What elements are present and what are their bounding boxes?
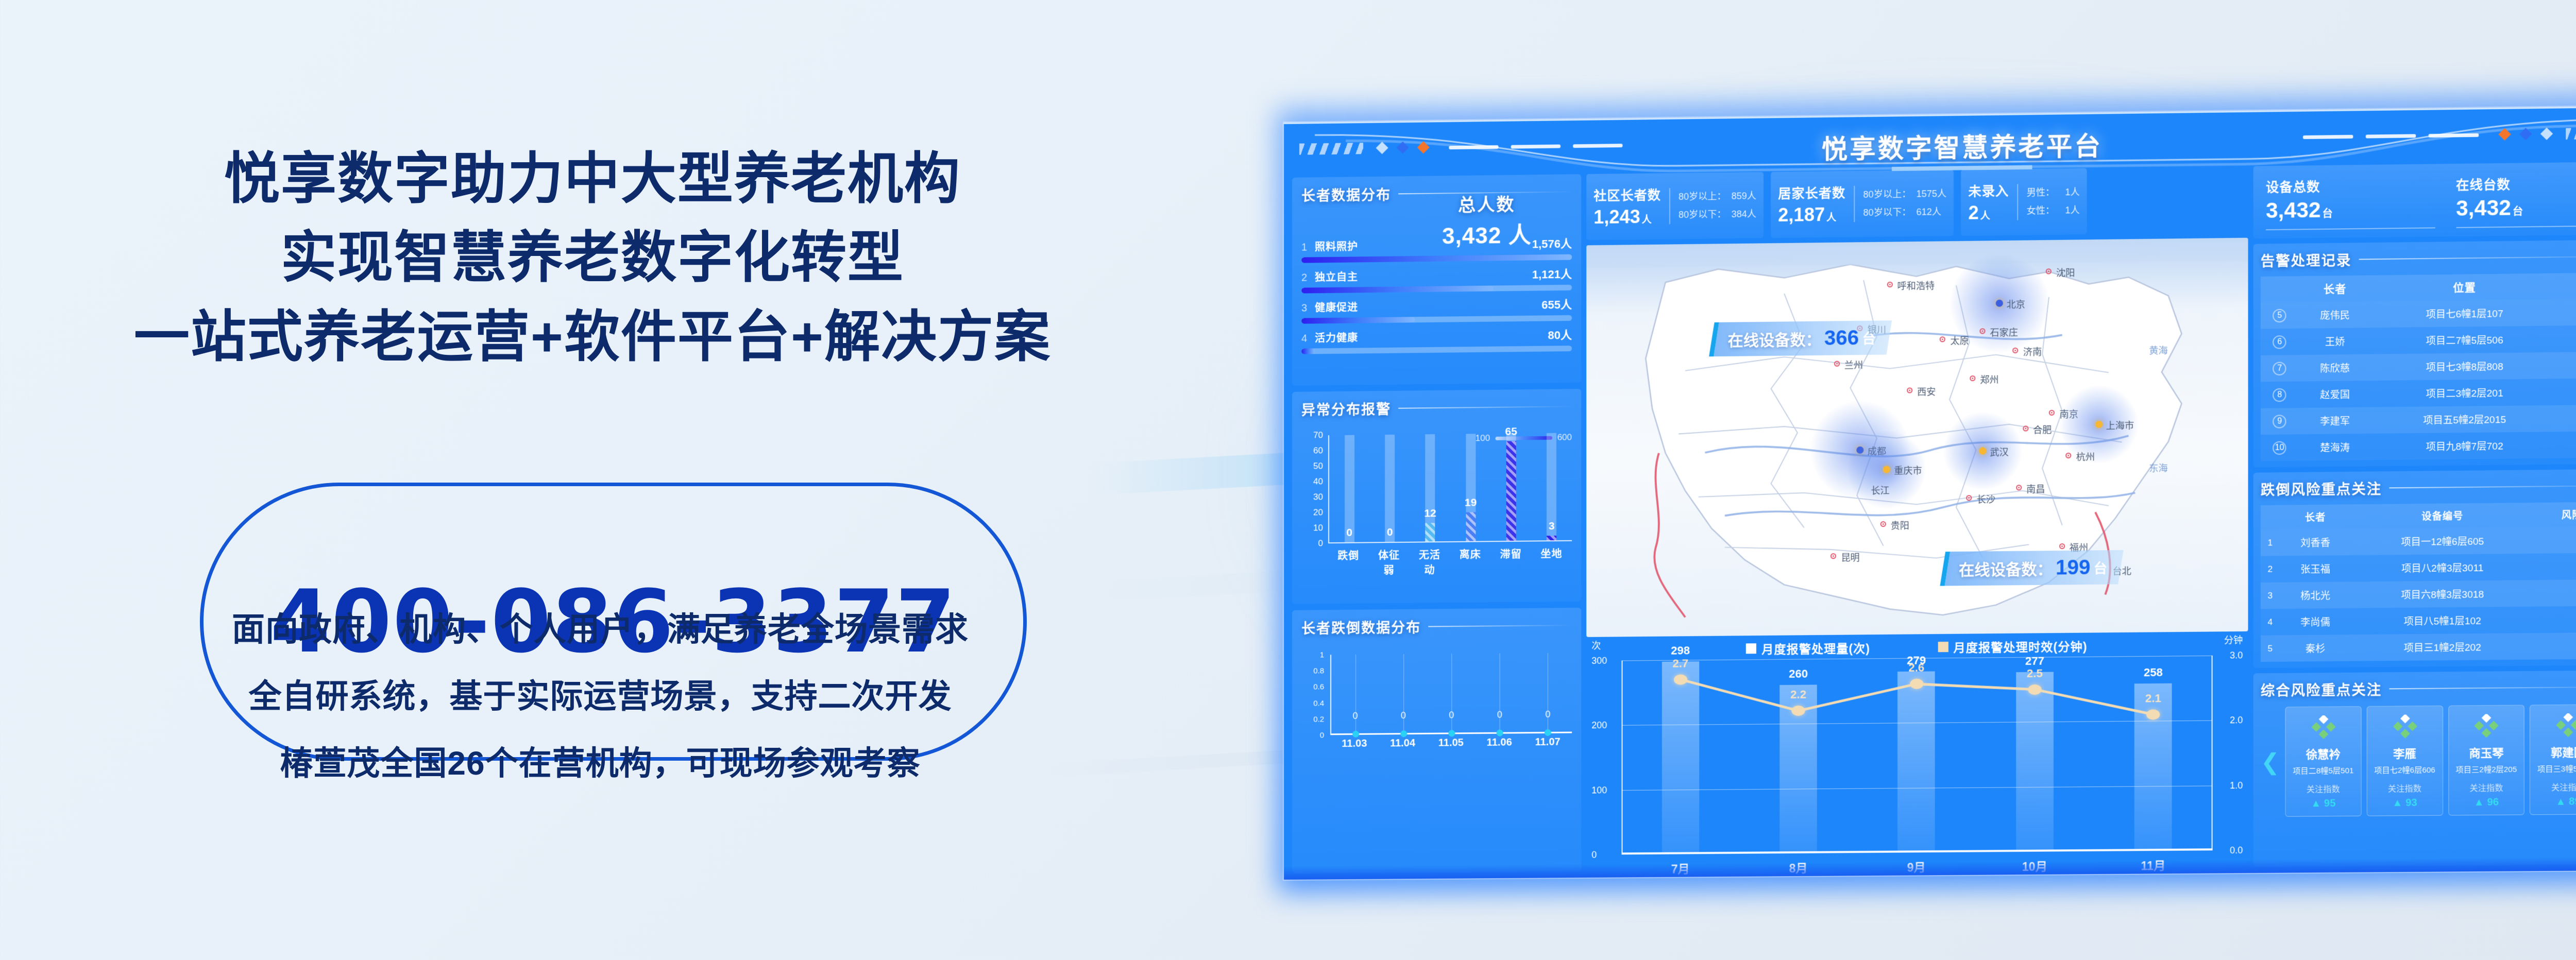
risk-card-score: ▲ 89 <box>2533 796 2576 808</box>
elder-distribution-row: 4活力健康80人 <box>1301 326 1572 354</box>
data-point <box>1545 729 1551 736</box>
table-column-header: 长者 <box>2280 504 2351 529</box>
table-row[interactable]: 5庞伟民项目七6幢1层107已处理 <box>2261 298 2576 329</box>
fall-data-title: 长者跌倒数据分布 <box>1301 615 1572 638</box>
bar-chart-plot: 001219653 <box>1328 433 1572 543</box>
stat-sub-value: 1人 <box>2065 183 2079 202</box>
axis-unit-left: 次 <box>1591 639 1601 652</box>
bar-track <box>1345 435 1354 542</box>
alarm-records-card: 告警处理记录 长者位置状态 5庞伟民项目七6幢1层107已处理6王娇项目二7幢5… <box>2253 239 2576 467</box>
marketing-sub-3: 椿萱茂全国26个在营机构，可现场参观考察 <box>0 747 1200 780</box>
bar-value-label: 12 <box>1424 508 1436 520</box>
x-tick: 9月 <box>1890 858 1942 876</box>
row-index: 3 <box>1301 302 1315 314</box>
elder-distribution-card: 长者数据分布 总人数 3,432 人 1照料照护1,576人2独立自主1,121… <box>1292 174 1581 386</box>
y-tick: 0 <box>1320 731 1324 740</box>
combo-legend-bar: 月度报警处理量(次) <box>1746 639 1870 657</box>
grid-line <box>1548 653 1548 733</box>
row-index: 2 <box>1301 272 1315 284</box>
diamond-cluster-icon <box>2452 713 2521 742</box>
online-tag-1-label: 在线设备数： <box>1727 327 1821 351</box>
data-point-label: 0 <box>1401 710 1406 721</box>
y-tick-left: 0 <box>1591 849 1597 860</box>
y-tick: 0.6 <box>1313 682 1324 691</box>
table-header-row: 长者设备编号风险指数 <box>2261 502 2576 529</box>
risk-card-location: 项目三3幢5层502 <box>2533 763 2576 774</box>
bar-value-label: 3 <box>1549 520 1555 533</box>
map-pin-icon <box>2059 543 2065 549</box>
table-row[interactable]: 10楚海涛项目九8幢7层702已处理 <box>2261 431 2576 461</box>
cell-device: 项目八2幢3层3011 <box>2351 554 2534 582</box>
risk-card[interactable]: 商玉琴项目三2幢2层205关注指数▲ 96 <box>2448 705 2524 816</box>
stat-main: 居家长者数2,187人 <box>1778 183 1845 226</box>
cell-status: 已处理 <box>2558 325 2576 352</box>
cell-index: 10 <box>2261 434 2299 461</box>
cell-index: 4 <box>2261 609 2280 636</box>
title-rule <box>1398 406 1572 408</box>
cell-location: 项目五5幢2层2015 <box>2371 405 2558 434</box>
fall-data-card: 长者跌倒数据分布 00.20.40.60.81 00000 11.0311.04… <box>1292 608 1581 873</box>
y-tick: 50 <box>1313 461 1323 471</box>
right-column: 设备总数3,432台在线台数3,432台 告警处理记录 长者位置状态 5庞伟民项… <box>2253 162 2576 867</box>
online-tag-2-value: 199 <box>2056 556 2090 579</box>
risk-card-score: ▲ 93 <box>2370 797 2439 809</box>
cell-name: 张玉福 <box>2280 555 2351 582</box>
device-stat-value: 3,432台 <box>2266 196 2435 223</box>
cell-index: 6 <box>2261 329 2299 355</box>
cell-name: 王娇 <box>2299 328 2371 355</box>
cell-index: 3 <box>2261 582 2280 609</box>
cell-status: 已处理 <box>2558 431 2576 458</box>
combo-line-point <box>1674 674 1687 684</box>
y-tick-right: 2.0 <box>2230 715 2243 726</box>
bar-fill <box>1506 441 1516 541</box>
title-rule <box>2359 255 2576 260</box>
stat-sub-value: 1人 <box>2065 201 2079 220</box>
row-label: 照料照护 <box>1315 238 1358 253</box>
combo-line-label: 2.2 <box>1790 688 1806 701</box>
cell-index: 7 <box>2261 355 2299 382</box>
y-tick: 1 <box>1320 650 1324 659</box>
table-column-header: 状态 <box>2558 272 2576 299</box>
cell-score: 76 <box>2534 606 2576 633</box>
elder-total-value: 3,432 人 <box>1442 216 1532 250</box>
cell-name: 李尚儒 <box>2280 608 2351 636</box>
table-column-header <box>2261 276 2299 302</box>
row-label: 活力健康 <box>1315 329 1358 345</box>
map-pin-icon <box>1970 375 1975 381</box>
row-bar-track <box>1301 254 1572 263</box>
risk-card-name: 商玉琴 <box>2452 744 2521 761</box>
data-point-label: 0 <box>1497 710 1502 721</box>
risk-card-location: 项目二8幢5层501 <box>2289 765 2358 776</box>
online-tag-2-unit: 台 <box>2094 557 2107 576</box>
cell-name: 陈欣慈 <box>2299 354 2371 382</box>
row-bar-fill <box>1301 348 1315 354</box>
row-bar-track <box>1301 346 1572 354</box>
map-outline-svg <box>1586 238 2248 637</box>
stat-title: 居家长者数 <box>1778 183 1845 202</box>
headline-line-1: 悦享数字助力中大型养老机构 <box>0 139 1185 218</box>
fall-line-chart: 00.20.40.60.81 00000 11.0311.0411.0511.0… <box>1301 653 1572 752</box>
cell-name: 李建军 <box>2299 407 2371 434</box>
china-map[interactable]: 沈阳呼和浩特北京石家庄太原银川济南兰州郑州西安南京合肥上海市成都武汉杭州重庆市长… <box>1586 238 2248 637</box>
stat-sub-value: 1575人 <box>1916 185 1946 203</box>
bar-column: 0 <box>1375 435 1405 542</box>
row-index: 4 <box>1301 333 1315 345</box>
x-tick: 滞留 <box>1496 546 1526 576</box>
y-tick: 0.8 <box>1313 666 1324 675</box>
row-bar-fill <box>1301 285 1494 293</box>
cell-location: 项目二7幢5层506 <box>2371 325 2558 354</box>
stat-sub-key: 80岁以下： <box>1679 205 1726 224</box>
table-row[interactable]: 1刘香香项目一12幢6层60567 <box>2261 526 2576 556</box>
stat-title: 未录入 <box>1968 181 2009 200</box>
stat-main: 未录入2人 <box>1968 181 2009 224</box>
combo-bar-label: 298 <box>1671 644 1690 657</box>
bar-chart-x-labels: 跌倒体征弱无活动离床滞留坐地 <box>1328 545 1572 577</box>
y-tick: 70 <box>1313 430 1323 440</box>
map-city-label: 郑州 <box>1980 372 1998 386</box>
diamond-cluster-icon <box>2370 713 2439 742</box>
grid-line <box>1451 654 1452 734</box>
cell-index: 5 <box>2261 302 2299 329</box>
stat-card: 未录入2人男性：1人女性：1人 <box>1961 168 2087 236</box>
map-city-label: 南昌 <box>2026 482 2045 495</box>
row-bar-track <box>1301 285 1572 294</box>
map-pin-icon <box>1979 328 1985 334</box>
carousel-prev-icon[interactable]: ❮ <box>2261 707 2280 817</box>
online-tag-1-unit: 台 <box>1862 328 1875 347</box>
axis-unit-right: 分钟 <box>2224 633 2243 646</box>
row-value: 1,121人 <box>1532 265 1572 282</box>
stat-value: 2,187人 <box>1778 203 1845 226</box>
y-tick-right: 3.0 <box>2230 650 2243 661</box>
y-tick: 0.2 <box>1313 715 1324 724</box>
data-point <box>1400 730 1407 737</box>
line-chart-x-labels: 11.0311.0411.0511.0611.07 <box>1330 736 1572 752</box>
combo-line-label: 2.7 <box>1672 657 1688 670</box>
combo-legend-line: 月度报警处理时效(分钟) <box>1938 637 2087 656</box>
alarm-records-title: 告警处理记录 <box>2261 246 2576 270</box>
row-value: 80人 <box>1548 326 1572 343</box>
y-tick-right: 1.0 <box>2230 780 2243 791</box>
dashboard-screen: 悦享数字智慧养老平台 长者数据分布 总人数 3,432 人 1照料照护1,576… <box>1284 106 2576 880</box>
bar-column: 19 <box>1455 434 1485 541</box>
risk-card-list: 徐慧衿项目二8幢5层501关注指数▲ 95李雁项目七2幢6层606关注指数▲ 9… <box>2285 704 2576 817</box>
map-pin-icon <box>2013 347 2019 353</box>
diamond-cluster-icon <box>2289 714 2358 742</box>
map-city-dot[interactable] <box>2095 421 2102 428</box>
row-index: 1 <box>1301 242 1315 253</box>
left-column: 长者数据分布 总人数 3,432 人 1照料照护1,576人2独立自主1,121… <box>1292 174 1581 873</box>
device-stats-row: 设备总数3,432台在线台数3,432台 <box>2253 162 2576 239</box>
cell-name: 刘香香 <box>2280 529 2351 556</box>
map-pin-icon <box>2023 426 2028 432</box>
legend-swatch-bar <box>1746 643 1756 654</box>
elder-distribution-list: 1照料照护1,576人2独立自主1,121人3健康促进655人4活力健康80人 <box>1301 235 1572 354</box>
map-city-label: 长沙 <box>1977 492 1995 506</box>
line-chart-y-axis: 00.20.40.60.81 <box>1301 655 1327 735</box>
map-pin-icon <box>2046 268 2052 274</box>
y-tick-left: 300 <box>1591 655 1607 666</box>
bar-column: 65 <box>1496 433 1526 541</box>
table-row[interactable]: 8赵爱国项目二3幢2层201已处理 <box>2261 378 2576 408</box>
x-tick: 11.07 <box>1535 736 1560 748</box>
risk-card-name: 徐慧衿 <box>2289 745 2358 762</box>
map-city-label: 太原 <box>1950 333 1969 347</box>
cell-status: 已处理 <box>2558 298 2576 325</box>
combo-line-label: 2.6 <box>1908 661 1924 675</box>
cell-location: 项目九8幢7层702 <box>2371 432 2558 460</box>
x-tick: 8月 <box>1772 859 1824 877</box>
table-header-row: 长者位置状态 <box>2261 272 2576 302</box>
stat-sub-key: 男性： <box>2027 183 2060 202</box>
risk-card-name: 李雁 <box>2370 745 2439 762</box>
anomaly-alarm-card: 异常分布报警 100 600 010203040506070 001219653… <box>1292 389 1581 604</box>
stat-card: 社区长者数1,243人80岁以上：859人80岁以下：384人 <box>1586 172 1764 240</box>
anomaly-bar-chart: 010203040506070 001219653 跌倒体征弱无活动离床滞留坐地 <box>1301 433 1572 564</box>
title-rule <box>1428 625 1572 627</box>
stat-sub-key: 女性： <box>2027 201 2060 220</box>
combo-plot-area: 00.01001.02002.03003.0次分钟298260279277258… <box>1621 656 2212 855</box>
table-row[interactable]: 9李建军项目五5幢2层2015已处理 <box>2261 404 2576 435</box>
table-column-header: 风险指数 <box>2534 502 2576 527</box>
elder-total-label: 总人数 <box>1442 190 1532 216</box>
x-tick: 11.04 <box>1390 738 1415 749</box>
cell-score: 88 <box>2534 553 2576 580</box>
table-body: 5庞伟民项目七6幢1层107已处理6王娇项目二7幢5层506已处理7陈欣慈项目七… <box>2261 298 2576 461</box>
stat-value: 1,243人 <box>1594 205 1661 228</box>
map-pin-icon <box>2016 485 2022 490</box>
legend-swatch-line <box>1938 642 1948 652</box>
monthly-alarm-combo-chart: 月度报警处理量(次) 月度报警处理时效(分钟) 00.01001.02002.0… <box>1586 636 2248 871</box>
data-point <box>1448 730 1455 736</box>
bar-fill <box>1466 512 1476 541</box>
cell-device: 项目三1幢2层202 <box>2351 633 2534 661</box>
x-tick: 跌倒 <box>1333 547 1363 578</box>
overall-risk-card: 综合风险重点关注 ❮ 徐慧衿项目二8幢5层501关注指数▲ 95李雁项目七2幢6… <box>2253 670 2576 867</box>
anomaly-alarm-title: 异常分布报警 <box>1301 396 1572 419</box>
device-stat-value: 3,432台 <box>2456 194 2576 221</box>
cell-score: 78 <box>2534 632 2576 660</box>
data-point-label: 0 <box>1545 709 1550 720</box>
stat-sub-row: 80岁以下：384人 <box>1679 205 1756 224</box>
stat-sub-key: 80岁以上： <box>1679 187 1726 206</box>
cell-location: 项目七6幢1层107 <box>2371 299 2558 328</box>
cell-status: 已处理 <box>2558 351 2576 379</box>
legend-label-line: 月度报警处理时效(分钟) <box>1953 637 2087 656</box>
row-value: 655人 <box>1541 296 1572 313</box>
cell-index: 2 <box>2261 556 2280 582</box>
risk-card[interactable]: 郭建国项目三3幢5层502关注指数▲ 89 <box>2530 704 2576 815</box>
grid-line <box>1355 655 1356 735</box>
device-stat: 设备总数3,432台 <box>2266 176 2435 231</box>
risk-card-index-label: 关注指数 <box>2533 780 2576 793</box>
x-tick: 无活动 <box>1415 546 1445 577</box>
x-tick: 11月 <box>2127 856 2179 874</box>
cell-score: 67 <box>2534 526 2576 554</box>
map-city-label: 重庆市 <box>1894 464 1922 477</box>
cell-location: 项目二3幢2层201 <box>2371 379 2558 407</box>
overall-risk-carousel: ❮ 徐慧衿项目二8幢5层501关注指数▲ 95李雁项目七2幢6层606关注指数▲… <box>2261 704 2576 817</box>
risk-card-score: ▲ 96 <box>2452 796 2521 809</box>
fall-risk-title: 跌倒风险重点关注 <box>2261 475 2576 499</box>
diamond-cluster-icon <box>2533 712 2576 741</box>
stat-sub-key: 80岁以上： <box>1863 185 1911 204</box>
cell-name: 杨北光 <box>2280 581 2351 609</box>
fall-risk-table: 长者设备编号风险指数 1刘香香项目一12幢6层605672张玉福项目八2幢3层3… <box>2261 502 2576 662</box>
y-tick: 20 <box>1313 507 1323 518</box>
y-tick-right: 0.0 <box>2230 845 2243 855</box>
cell-index: 9 <box>2261 408 2299 435</box>
bar-value-label: 19 <box>1465 496 1477 509</box>
bar-column: 3 <box>1537 433 1567 540</box>
risk-card[interactable]: 徐慧衿项目二8幢5层501关注指数▲ 95 <box>2285 706 2361 817</box>
stat-sub-row: 女性：1人 <box>2027 201 2080 220</box>
cell-index: 5 <box>2261 635 2280 662</box>
bar-column: 0 <box>1334 435 1364 542</box>
risk-card-score: ▲ 95 <box>2289 798 2358 810</box>
cell-score: 52 <box>2534 579 2576 607</box>
bar-fill <box>1426 523 1435 542</box>
row-value: 1,576人 <box>1532 235 1572 252</box>
map-city-label: 东海 <box>2149 461 2167 475</box>
cell-device: 项目六8幢3层3018 <box>2351 580 2534 608</box>
grid-line <box>1403 654 1404 734</box>
x-tick: 11.06 <box>1487 737 1512 749</box>
bar-chart-y-axis: 010203040506070 <box>1301 435 1326 544</box>
combo-line-label: 2.5 <box>2027 666 2043 680</box>
line-chart-plot: 00000 <box>1330 653 1572 735</box>
stat-card: 居家长者数2,187人80岁以上：1575人80岁以下：612人 <box>1771 170 1954 238</box>
stat-sub-row: 80岁以下：612人 <box>1863 203 1946 222</box>
marketing-sublines: 面向政府、机构、个人用户，满足养老全场景需求 全自研系统，基于实际运营场景，支持… <box>0 613 1200 814</box>
y-tick: 60 <box>1313 445 1323 456</box>
stat-sub-row: 男性：1人 <box>2027 183 2080 202</box>
device-stat-rule <box>2266 227 2435 230</box>
marketing-sub-2: 全自研系统，基于实际运营场景，支持二次开发 <box>0 680 1200 713</box>
table-row[interactable]: 5秦杉项目三1幢2层20278 <box>2261 632 2576 662</box>
table-body: 1刘香香项目一12幢6层605672张玉福项目八2幢3层3011883杨北光项目… <box>2261 526 2576 662</box>
cell-status: 已处理 <box>2558 404 2576 432</box>
table-row[interactable]: 3杨北光项目六8幢3层301852 <box>2261 579 2576 609</box>
risk-card-index-label: 关注指数 <box>2370 781 2439 794</box>
data-point <box>1497 730 1503 736</box>
row-label: 健康促进 <box>1315 299 1358 314</box>
table-column-header: 长者 <box>2299 275 2371 302</box>
elder-distribution-row: 3健康促进655人 <box>1301 296 1572 324</box>
device-stat-title: 在线台数 <box>2456 173 2576 194</box>
table-row[interactable]: 4李尚儒项目八5幢1层10276 <box>2261 606 2576 636</box>
map-city-label: 北京 <box>2007 298 2025 312</box>
row-label: 独立自主 <box>1315 268 1358 284</box>
elder-distribution-row: 2独立自主1,121人 <box>1301 265 1572 294</box>
row-bar-fill <box>1301 317 1415 323</box>
table-column-header: 位置 <box>2371 273 2558 301</box>
bar-value-label: 0 <box>1387 526 1393 539</box>
map-city-label: 西安 <box>1917 385 1936 398</box>
x-tick: 坐地 <box>1536 545 1566 576</box>
online-device-tag-2: 在线设备数： 199 台 <box>1940 550 2124 586</box>
device-stat-title: 设备总数 <box>2266 176 2435 196</box>
row-bar-fill <box>1301 254 1572 263</box>
y-tick: 10 <box>1313 523 1323 533</box>
x-tick: 离床 <box>1455 546 1485 576</box>
combo-line-point <box>1910 679 1923 689</box>
table-row[interactable]: 2张玉福项目八2幢3层301188 <box>2261 553 2576 582</box>
table-row[interactable]: 7陈欣慈项目七3幢8层808已处理 <box>2261 351 2576 382</box>
legend-label-bar: 月度报警处理量(次) <box>1761 639 1870 657</box>
table-column-header: 设备编号 <box>2351 503 2534 529</box>
map-city-label: 济南 <box>2023 345 2042 358</box>
stats-row: 社区长者数1,243人80岁以上：859人80岁以下：384人居家长者数2,18… <box>1586 166 2248 241</box>
alarm-records-table: 长者位置状态 5庞伟民项目七6幢1层107已处理6王娇项目二7幢5层506已处理… <box>2261 272 2576 461</box>
map-city-label: 上海市 <box>2106 418 2134 432</box>
marketing-sub-1: 面向政府、机构、个人用户，满足养老全场景需求 <box>0 613 1200 646</box>
x-tick: 11.05 <box>1438 737 1464 749</box>
marketing-panel: 悦享数字助力中大型养老机构 实现智慧养老数字化转型 一站式养老运营+软件平台+解… <box>0 0 1236 960</box>
y-tick: 30 <box>1313 492 1323 502</box>
map-city-label: 武汉 <box>1990 445 2008 458</box>
map-city-label: 合肥 <box>2033 423 2052 437</box>
bar-value-label: 0 <box>1346 527 1352 539</box>
overall-risk-title: 综合风险重点关注 <box>2261 676 2576 699</box>
dashboard-surface: 悦享数字智慧养老平台 长者数据分布 总人数 3,432 人 1照料照护1,576… <box>1284 106 2576 880</box>
cell-index: 1 <box>2261 529 2280 556</box>
headline-block: 悦享数字助力中大型养老机构 实现智慧养老数字化转型 一站式养老运营+软件平台+解… <box>0 139 1185 376</box>
table-column-header <box>2261 505 2280 530</box>
bar-track <box>1385 435 1395 542</box>
map-city-label: 长江 <box>1871 484 1889 497</box>
bar-fill <box>1547 536 1556 540</box>
y-tick: 0 <box>1318 538 1323 548</box>
cell-device: 项目八5幢1层102 <box>2351 607 2534 635</box>
risk-card[interactable]: 李雁项目七2幢6层606关注指数▲ 93 <box>2366 706 2443 816</box>
stat-sub-row: 80岁以上：859人 <box>1679 187 1756 206</box>
row-bar-track <box>1301 315 1572 324</box>
x-tick: 11.03 <box>1342 738 1367 750</box>
map-city-label: 昆明 <box>1841 551 1859 564</box>
x-tick: 10月 <box>2009 856 2061 875</box>
y-tick-left: 200 <box>1591 720 1607 731</box>
title-rule <box>2389 686 2576 689</box>
online-tag-1-value: 366 <box>1824 326 1859 350</box>
stat-sub-value: 612人 <box>1916 203 1941 221</box>
risk-card-location: 项目七2幢6层606 <box>2370 764 2439 776</box>
map-city-label: 贵阳 <box>1891 519 1909 532</box>
stat-title: 社区长者数 <box>1594 185 1661 204</box>
device-stat: 在线台数3,432台 <box>2456 173 2576 228</box>
headline-line-2: 实现智慧养老数字化转型 <box>0 218 1185 297</box>
bar-value-label: 65 <box>1505 425 1517 438</box>
risk-card-index-label: 关注指数 <box>2452 781 2521 794</box>
cell-index: 8 <box>2261 382 2299 408</box>
device-stat-rule <box>2456 225 2576 228</box>
map-city-label: 杭州 <box>2076 450 2095 464</box>
online-device-tag-1: 在线设备数： 366 台 <box>1709 320 1892 356</box>
y-tick-left: 100 <box>1591 784 1607 795</box>
y-tick: 0.4 <box>1313 698 1324 707</box>
data-point <box>1352 731 1359 738</box>
cell-name: 秦杉 <box>2280 635 2351 662</box>
middle-column: 社区长者数1,243人80岁以上：859人80岁以下：384人居家长者数2,18… <box>1586 166 2248 871</box>
table-row[interactable]: 6王娇项目二7幢5层506已处理 <box>2261 325 2576 355</box>
map-city-dot[interactable] <box>1979 448 1986 455</box>
cell-location: 项目七3幢8层808 <box>2371 352 2558 381</box>
stat-sub: 80岁以上：859人80岁以下：384人 <box>1669 187 1756 224</box>
cell-status: 已处理 <box>2558 378 2576 405</box>
